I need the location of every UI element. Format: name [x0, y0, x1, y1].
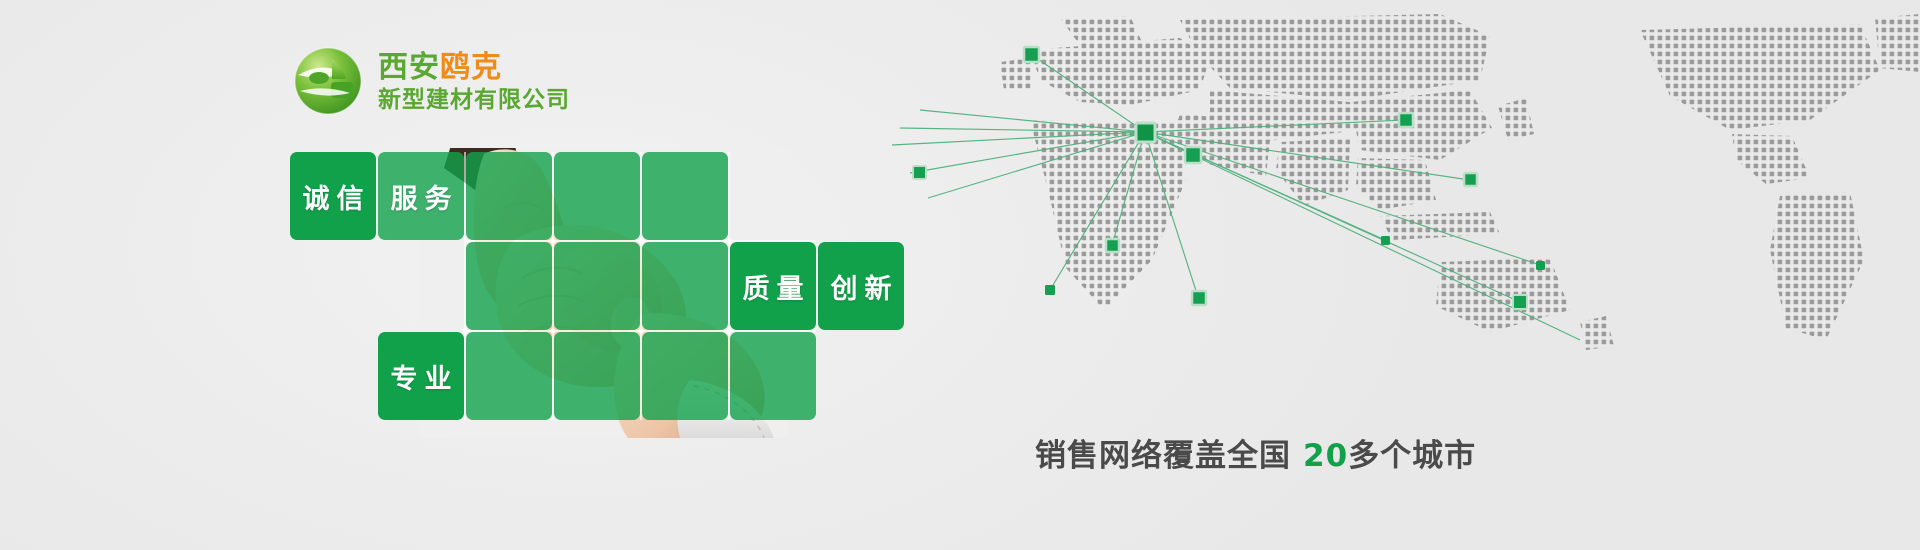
tile-label: 诚信	[296, 177, 371, 216]
tile-chengxin: 诚信	[290, 152, 376, 240]
map-node	[913, 166, 926, 179]
map-node	[1185, 147, 1201, 163]
tile-blank-r1c2	[466, 242, 552, 330]
logo-line-1: 西安鸥克	[378, 52, 570, 84]
company-logo[interactable]: 西安鸥克 新型建材有限公司	[292, 45, 570, 117]
tile-chuangxin: 创新	[818, 242, 904, 330]
ouke-globe-leaf-icon	[292, 45, 364, 117]
tile-blank-r1c3	[554, 242, 640, 330]
tile-blank-r1c4	[642, 242, 728, 330]
map-node	[1381, 236, 1390, 245]
map-node	[1106, 239, 1119, 252]
value-tile-mosaic: 诚信 服务 质量 创新 专业	[290, 152, 910, 422]
logo-brand-text: 鸥克	[440, 50, 502, 85]
map-node	[1464, 173, 1477, 186]
tagline-suffix: 多个城市	[1348, 438, 1476, 474]
tile-fuwu: 服务	[378, 152, 464, 240]
map-node	[1192, 291, 1206, 305]
map-node-group	[913, 47, 1545, 309]
map-node	[1024, 47, 1039, 62]
map-node	[1045, 285, 1055, 295]
map-node	[1536, 261, 1545, 270]
logo-city-text: 西安	[378, 50, 440, 85]
map-node-hub	[1136, 123, 1155, 142]
promo-banner: 西安鸥克 新型建材有限公司	[0, 0, 1920, 550]
tagline-city-count: 20	[1303, 438, 1348, 474]
tile-label: 质量	[736, 267, 811, 306]
world-network-map	[880, 10, 1920, 370]
tile-blank-r2c3	[554, 332, 640, 420]
sales-network-tagline: 销售网络覆盖全国20多个城市	[1035, 430, 1476, 475]
tagline-prefix: 销售网络覆盖全国	[1035, 438, 1291, 474]
tile-label: 专业	[384, 357, 459, 396]
tile-blank-r2c5	[730, 332, 816, 420]
tile-label: 服务	[384, 177, 459, 216]
logo-line-2: 新型建材有限公司	[378, 88, 570, 112]
tile-blank-r0c2	[466, 152, 552, 240]
tile-blank-r2c2	[466, 332, 552, 420]
tile-zhiliang: 质量	[730, 242, 816, 330]
tile-blank-r2c4	[642, 332, 728, 420]
tile-blank-r0c4	[642, 152, 728, 240]
tile-zhuanye: 专业	[378, 332, 464, 420]
map-node	[1513, 295, 1527, 309]
tile-label: 创新	[824, 267, 899, 306]
tile-blank-r0c3	[554, 152, 640, 240]
map-node	[1399, 113, 1413, 127]
network-links-svg	[880, 10, 1920, 370]
